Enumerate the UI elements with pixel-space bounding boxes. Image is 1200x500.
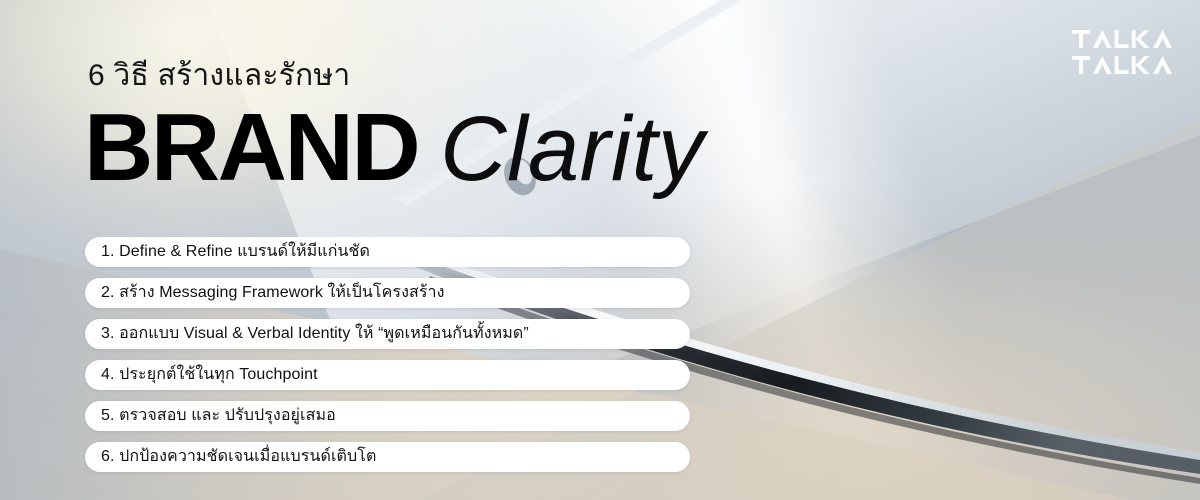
headline-clarity-word: Clarity — [440, 98, 704, 200]
list-item-label: 6. ปกป้องความชัดเจนเมื่อแบรนด์เติบโต — [101, 442, 376, 472]
list-item[interactable]: 6. ปกป้องความชัดเจนเมื่อแบรนด์เติบโต — [85, 442, 690, 472]
steps-list: 1. Define & Refine แบรนด์ให้มีแก่นชัด 2.… — [85, 237, 690, 472]
logo-wordmark-line-1-icon — [1072, 28, 1172, 50]
list-item-label: 1. Define & Refine แบรนด์ให้มีแก่นชัด — [101, 237, 370, 267]
list-item-label: 4. ประยุกต์ใช้ในทุก Touchpoint — [101, 360, 318, 390]
list-item-label: 5. ตรวจสอบ และ ปรับปรุงอยู่เสมอ — [101, 401, 336, 431]
talka-talka-logo[interactable]: TALKA TALKA — [1072, 28, 1172, 76]
list-item-label: 2. สร้าง Messaging Framework ให้เป็นโครง… — [101, 278, 445, 308]
banner-content: 6 วิธี สร้างและรักษา BRANDClarity 1. Def… — [0, 0, 1200, 500]
list-item-label: 3. ออกแบบ Visual & Verbal Identity ให้ “… — [101, 319, 529, 349]
page-title: BRANDClarity — [84, 98, 704, 226]
kicker-text: 6 วิธี สร้างและรักษา — [88, 56, 350, 96]
list-item[interactable]: 1. Define & Refine แบรนด์ให้มีแก่นชัด — [85, 237, 690, 267]
list-item[interactable]: 5. ตรวจสอบ และ ปรับปรุงอยู่เสมอ — [85, 401, 690, 431]
headline-brand-word: BRAND — [84, 94, 418, 201]
list-item[interactable]: 4. ประยุกต์ใช้ในทุก Touchpoint — [85, 360, 690, 390]
brand-clarity-banner: 6 วิธี สร้างและรักษา BRANDClarity 1. Def… — [0, 0, 1200, 500]
list-item[interactable]: 2. สร้าง Messaging Framework ให้เป็นโครง… — [85, 278, 690, 308]
logo-wordmark-line-2-icon — [1072, 54, 1172, 76]
list-item[interactable]: 3. ออกแบบ Visual & Verbal Identity ให้ “… — [85, 319, 690, 349]
